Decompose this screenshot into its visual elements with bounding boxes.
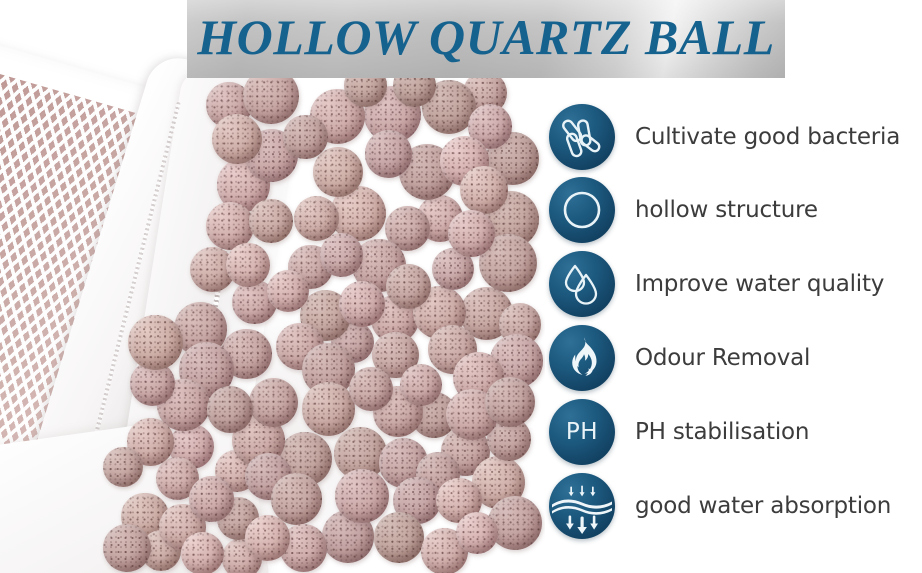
flame-icon bbox=[549, 325, 615, 391]
quartz-ball bbox=[271, 473, 322, 524]
quartz-ball bbox=[374, 512, 424, 562]
feature-row-ph-stabilisation: PH PH stabilisation bbox=[549, 399, 922, 465]
feature-row-cultivate-good-bacteria: Cultivate good bacteria bbox=[549, 104, 922, 170]
quartz-ball bbox=[313, 147, 363, 197]
quartz-ball bbox=[320, 233, 363, 276]
feature-row-improve-water-quality: Improve water quality bbox=[549, 251, 922, 317]
quartz-ball bbox=[207, 386, 254, 433]
quartz-ball bbox=[335, 469, 388, 522]
product-photo bbox=[0, 0, 545, 573]
feature-label: Improve water quality bbox=[635, 271, 922, 297]
feature-label: good water absorption bbox=[635, 493, 922, 519]
quartz-ball bbox=[460, 166, 507, 213]
quartz-ball bbox=[302, 382, 355, 435]
quartz-ball bbox=[249, 199, 292, 242]
hollow-ring-icon bbox=[549, 177, 615, 243]
bacteria-icon bbox=[549, 104, 615, 170]
feature-row-good-water-absorption: good water absorption bbox=[549, 473, 922, 539]
page-title: HOLLOW QUARTZ BALL bbox=[195, 0, 777, 78]
water-absorption-icon bbox=[549, 473, 615, 539]
water-droplets-icon bbox=[549, 251, 615, 317]
quartz-ball bbox=[189, 476, 234, 521]
quartz-ball bbox=[400, 364, 442, 406]
quartz-ball bbox=[226, 243, 270, 287]
feature-row-odour-removal: Odour Removal bbox=[549, 325, 922, 391]
title-banner: HOLLOW QUARTZ BALL bbox=[187, 0, 785, 78]
feature-row-hollow-structure: hollow structure bbox=[549, 177, 922, 243]
feature-label: Odour Removal bbox=[635, 345, 922, 371]
feature-label: hollow structure bbox=[635, 197, 922, 223]
feature-label: Cultivate good bacteria bbox=[635, 124, 922, 150]
feature-list: Cultivate good bacteria hollow structure bbox=[549, 104, 922, 554]
quartz-ball bbox=[448, 210, 495, 257]
quartz-ball bbox=[339, 281, 385, 327]
quartz-ball bbox=[349, 367, 393, 411]
quartz-ball bbox=[456, 512, 498, 554]
quartz-ball bbox=[128, 315, 183, 370]
quartz-ball bbox=[485, 377, 535, 427]
quartz-ball bbox=[283, 115, 328, 160]
product-infographic: HOLLOW QUARTZ BALL Cultivate good bacter… bbox=[0, 0, 922, 573]
quartz-ball bbox=[181, 532, 224, 573]
quartz-ball bbox=[103, 447, 143, 487]
quartz-ball bbox=[267, 270, 309, 312]
quartz-ball bbox=[245, 515, 291, 561]
ph-icon-label: PH bbox=[549, 399, 615, 465]
quartz-ball bbox=[103, 524, 151, 572]
ph-icon: PH bbox=[549, 399, 615, 465]
quartz-ball bbox=[365, 130, 412, 177]
feature-label: PH stabilisation bbox=[635, 419, 922, 445]
